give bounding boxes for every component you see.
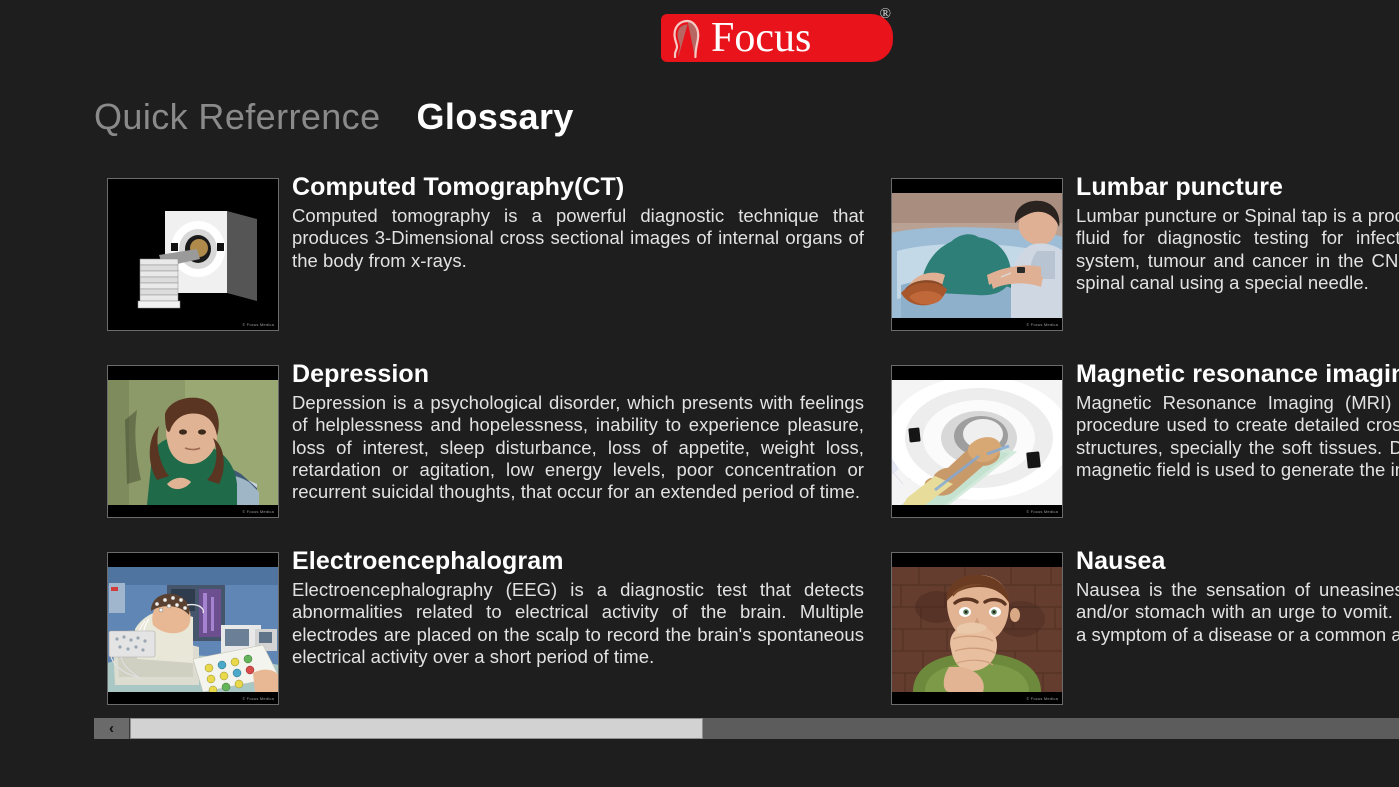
entry-body: Nausea Nausea is the sensation of uneasi… bbox=[1076, 546, 1399, 646]
watermark: © Focus Medica bbox=[242, 322, 274, 327]
tab-glossary[interactable]: Glossary bbox=[417, 96, 574, 138]
entry-term: Magnetic resonance imaging(MRI) bbox=[1076, 359, 1399, 389]
glossary-entries-grid: © Focus Medica Computed Tomography(CT) C… bbox=[94, 172, 1399, 717]
watermark: © Focus Medica bbox=[1026, 696, 1058, 701]
entry-description: Nausea is the sensation of uneasiness or… bbox=[1076, 579, 1399, 646]
glossary-entry[interactable]: © Focus Medica Lumbar puncture Lumbar pu… bbox=[878, 172, 1399, 359]
lumbar-puncture-image[interactable]: © Focus Medica bbox=[891, 178, 1063, 331]
scrollbar-track[interactable] bbox=[130, 718, 1399, 739]
horizontal-scrollbar[interactable]: ‹ bbox=[94, 718, 1399, 739]
logo-banner: Focus bbox=[661, 14, 893, 62]
entry-body: Lumbar puncture Lumbar puncture or Spina… bbox=[1076, 172, 1399, 294]
entry-description: Depression is a psychological disorder, … bbox=[292, 392, 864, 503]
glossary-left-column: © Focus Medica Computed Tomography(CT) C… bbox=[94, 172, 864, 717]
entry-body: Magnetic resonance imaging(MRI) Magnetic… bbox=[1076, 359, 1399, 481]
glossary-right-column: © Focus Medica Lumbar puncture Lumbar pu… bbox=[878, 172, 1399, 717]
entry-term: Depression bbox=[292, 359, 864, 389]
glossary-entry[interactable]: © Focus Medica Computed Tomography(CT) C… bbox=[94, 172, 864, 359]
entry-term: Nausea bbox=[1076, 546, 1399, 576]
entry-term: Lumbar puncture bbox=[1076, 172, 1399, 202]
entry-body: Depression Depression is a psychological… bbox=[292, 359, 864, 503]
logo-wordmark: Focus bbox=[711, 16, 811, 60]
ct-scanner-image[interactable]: © Focus Medica bbox=[107, 178, 279, 331]
glossary-entry[interactable]: © Focus Medica Nausea Nausea is the sens… bbox=[878, 546, 1399, 717]
glossary-entry[interactable]: © Focus Medica Depression Depression is … bbox=[94, 359, 864, 546]
tab-quick-reference[interactable]: Quick Referrence bbox=[94, 96, 381, 138]
watermark: © Focus Medica bbox=[242, 509, 274, 514]
entry-term: Electroencephalogram bbox=[292, 546, 864, 576]
depressed-woman-image[interactable]: © Focus Medica bbox=[107, 365, 279, 518]
watermark: © Focus Medica bbox=[1026, 509, 1058, 514]
head-profile-icon bbox=[665, 16, 709, 60]
watermark: © Focus Medica bbox=[242, 696, 274, 701]
entry-body: Computed Tomography(CT) Computed tomogra… bbox=[292, 172, 864, 272]
app-logo: Focus ® bbox=[661, 6, 893, 62]
nauseated-man-image[interactable]: © Focus Medica bbox=[891, 552, 1063, 705]
scroll-left-arrow-icon[interactable]: ‹ bbox=[94, 718, 130, 739]
registered-trademark-icon: ® bbox=[880, 6, 891, 23]
entry-term: Computed Tomography(CT) bbox=[292, 172, 864, 202]
glossary-entry[interactable]: © Focus Medica Magnetic resonance imagin… bbox=[878, 359, 1399, 546]
entry-body: Electroencephalogram Electroencephalogra… bbox=[292, 546, 864, 668]
scrollbar-thumb[interactable] bbox=[130, 718, 703, 739]
main-tab-bar: Quick Referrence Glossary bbox=[94, 96, 574, 138]
entry-description: Lumbar puncture or Spinal tap is a proce… bbox=[1076, 205, 1399, 294]
entry-description: Electroencephalography (EEG) is a diagno… bbox=[292, 579, 864, 668]
entry-description: Magnetic Resonance Imaging (MRI) is a no… bbox=[1076, 392, 1399, 481]
glossary-entry[interactable]: © Focus Medica Electroencephalogram Elec… bbox=[94, 546, 864, 717]
eeg-patient-image[interactable]: © Focus Medica bbox=[107, 552, 279, 705]
entry-description: Computed tomography is a powerful diagno… bbox=[292, 205, 864, 272]
watermark: © Focus Medica bbox=[1026, 322, 1058, 327]
mri-scanner-image[interactable]: © Focus Medica bbox=[891, 365, 1063, 518]
